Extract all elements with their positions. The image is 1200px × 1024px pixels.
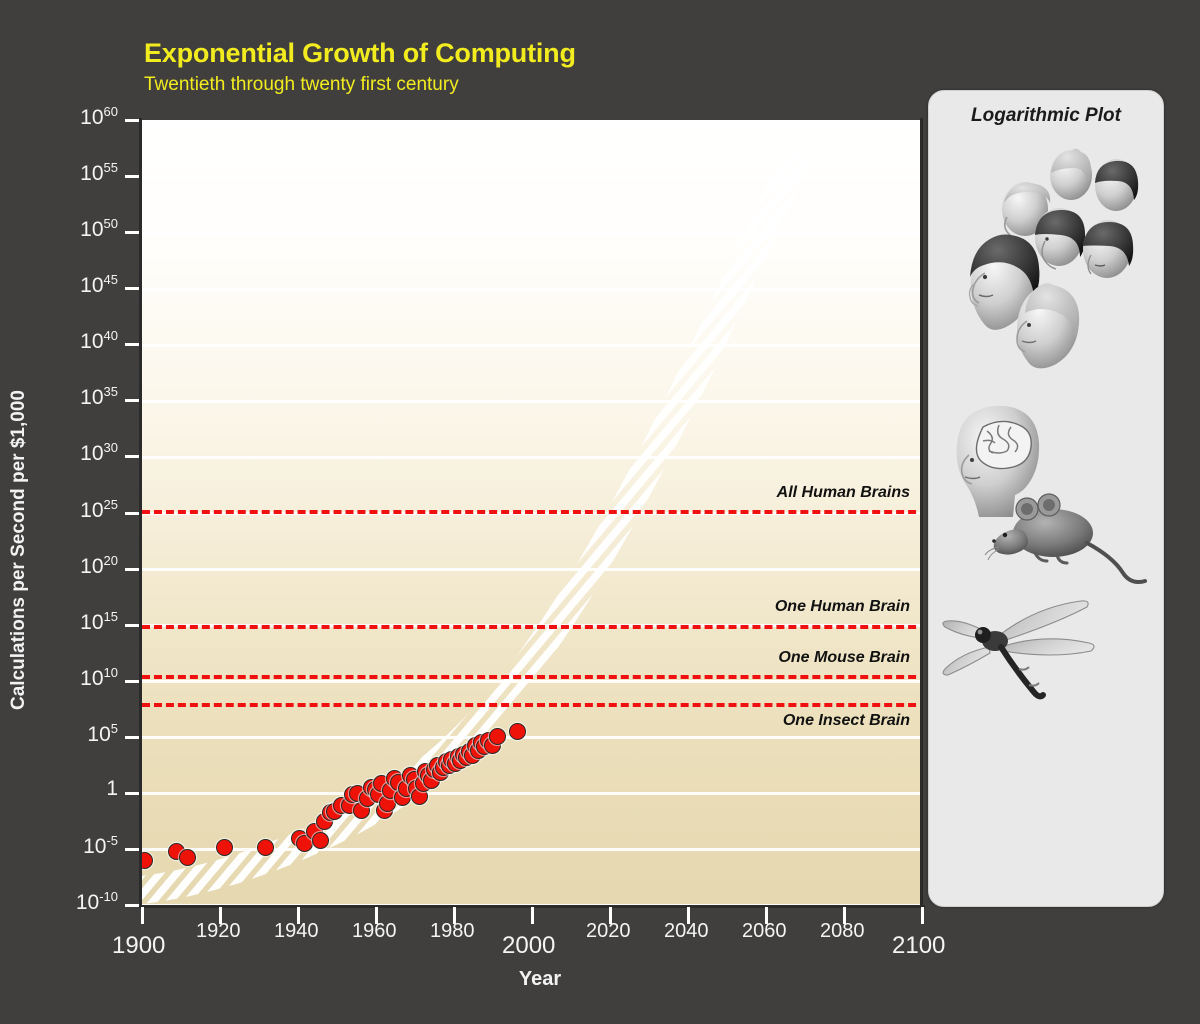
plot-right-edge	[920, 118, 923, 907]
data-point	[216, 839, 233, 856]
y-axis-tick	[125, 287, 139, 290]
y-axis-tick	[125, 175, 139, 178]
x-axis-tick-label: 2040	[664, 920, 709, 943]
y-axis-tick	[125, 792, 139, 795]
threshold-label-all-human-brains: All Human Brains	[600, 484, 910, 502]
threshold-line-all-human-brains	[142, 510, 922, 514]
threshold-label-one-insect-brain: One Insect Brain	[600, 712, 910, 730]
y-axis-tick	[125, 904, 139, 907]
y-axis-line	[139, 118, 142, 907]
y-axis-tick-label: 1045	[80, 273, 118, 296]
x-axis-title: Year	[0, 968, 1080, 991]
x-axis-tick-label: 2000	[502, 932, 555, 960]
y-axis-tick	[125, 568, 139, 571]
panel-artwork	[929, 111, 1163, 891]
y-axis-tick-label: 1	[106, 778, 118, 799]
x-axis-tick-label: 1960	[352, 920, 397, 943]
logarithmic-plot-panel: Logarithmic Plot	[928, 90, 1164, 907]
y-axis-tick	[125, 848, 139, 851]
y-axis-title: Calculations per Second per $1,000	[8, 350, 30, 750]
x-axis-tick-label: 1900	[112, 932, 165, 960]
x-axis-tick-label: 2060	[742, 920, 787, 943]
x-axis-tick-label: 2080	[820, 920, 865, 943]
y-axis-tick-label: 1020	[80, 554, 118, 577]
y-axis-tick-label: 1010	[80, 666, 118, 689]
data-point	[312, 832, 329, 849]
y-axis-tick	[125, 455, 139, 458]
plot-area	[142, 120, 922, 905]
x-axis-tick-label: 1920	[196, 920, 241, 943]
x-axis-tick	[531, 907, 534, 924]
data-point	[509, 723, 526, 740]
y-axis-tick-label: 1055	[80, 161, 118, 184]
y-axis-tick-label: 105	[87, 722, 118, 745]
x-axis-tick-label: 2020	[586, 920, 631, 943]
y-axis-tick	[125, 343, 139, 346]
threshold-line-one-mouse-brain	[142, 675, 922, 679]
y-axis-tick	[125, 231, 139, 234]
y-axis-tick	[125, 119, 139, 122]
threshold-line-one-human-brain	[142, 625, 922, 629]
y-axis-tick-label: 1060	[80, 105, 118, 128]
page-title: Exponential Growth of Computing	[144, 38, 576, 69]
y-axis-tick	[125, 680, 139, 683]
x-axis-tick-label: 1980	[430, 920, 475, 943]
threshold-label-one-human-brain: One Human Brain	[600, 598, 910, 616]
human-heads-crowd-illustration	[970, 149, 1139, 369]
y-axis-tick-label: 1030	[80, 441, 118, 464]
chart-canvas: Exponential Growth of Computing Twentiet…	[0, 0, 1200, 1024]
y-axis-tick-label: 1035	[80, 385, 118, 408]
y-axis-tick-label: 1040	[80, 329, 118, 352]
dragonfly-illustration	[943, 601, 1094, 696]
threshold-line-one-insect-brain	[142, 703, 922, 707]
y-axis-tick-label: 10-10	[76, 890, 118, 913]
page-subtitle: Twentieth through twenty first century	[144, 74, 459, 96]
x-axis-tick	[921, 907, 924, 924]
x-axis-tick-label: 2100	[892, 932, 945, 960]
y-axis-tick-label: 1050	[80, 217, 118, 240]
y-axis-tick	[125, 399, 139, 402]
threshold-label-one-mouse-brain: One Mouse Brain	[600, 649, 910, 667]
y-axis-tick	[125, 512, 139, 515]
y-axis-tick-label: 1025	[80, 498, 118, 521]
y-axis-tick	[125, 736, 139, 739]
y-axis-tick-label: 1015	[80, 610, 118, 633]
y-axis-tick	[125, 624, 139, 627]
x-axis-tick	[141, 907, 144, 924]
y-axis-tick-label: 10-5	[83, 834, 118, 857]
x-axis-tick-label: 1940	[274, 920, 319, 943]
